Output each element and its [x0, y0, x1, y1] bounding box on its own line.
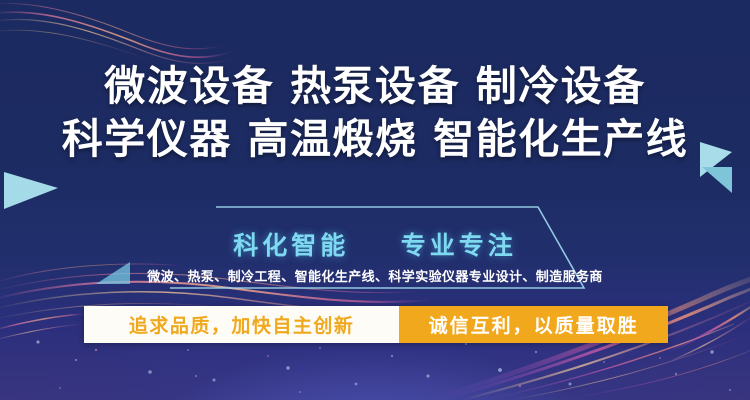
slogan-part-2: 专业专注 [401, 231, 517, 260]
cta-right-label[interactable]: 诚信互利，以质量取胜 [399, 306, 668, 343]
promo-banner: 微波设备 热泵设备 制冷设备 科学仪器 高温煅烧 智能化生产线 科化智能 专业专… [0, 0, 750, 400]
cta-left-label[interactable]: 追求品质，加快自主创新 [84, 306, 399, 343]
headline: 微波设备 热泵设备 制冷设备 科学仪器 高温煅烧 智能化生产线 [0, 60, 750, 166]
sub-description: 微波、热泵、制冷工程、智能化生产线、科学实验仪器专业设计、制造服务商 [0, 266, 750, 285]
cyan-arrow-right-lower-icon [702, 167, 732, 193]
headline-line-1: 微波设备 热泵设备 制冷设备 [0, 60, 750, 113]
slogan-part-1: 科化智能 [233, 231, 349, 260]
headline-line-2: 科学仪器 高温煅烧 智能化生产线 [0, 113, 750, 166]
slogan: 科化智能 专业专注 [0, 226, 750, 262]
cta-banner: 追求品质，加快自主创新 诚信互利，以质量取胜 [84, 306, 668, 343]
cyan-triangle-left-icon [4, 172, 58, 209]
